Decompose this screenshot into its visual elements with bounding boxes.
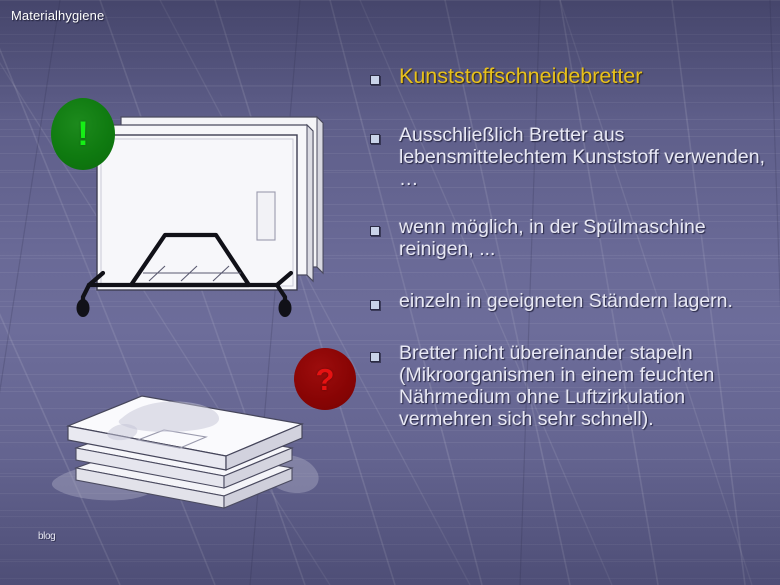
footer-note: blog [38, 531, 55, 542]
presentation-slide: Materialhygiene [0, 0, 780, 585]
bullet-item-4: Bretter nicht übereinander stapeln (Mikr… [370, 342, 770, 430]
bullet-square-icon [370, 352, 380, 362]
bullet-item-1: Ausschließlich Bretter aus lebensmittele… [370, 124, 770, 190]
bullet-item-heading: Kunststoffschneidebretter [370, 64, 770, 88]
bullet-list: Kunststoffschneidebretter Ausschließlich… [370, 64, 770, 452]
status-badge-warning: ? [294, 348, 356, 410]
bullet-item-2: wenn möglich, in der Spülmaschine reinig… [370, 216, 770, 260]
question-mark-icon: ? [316, 364, 335, 395]
exclamation-icon: ! [77, 117, 88, 151]
bullet-square-icon [370, 75, 380, 85]
bullet-text: wenn möglich, in der Spülmaschine reinig… [399, 216, 770, 260]
bullet-text: Kunststoffschneidebretter [399, 64, 642, 88]
slide-title: Materialhygiene [11, 8, 104, 23]
bullet-text: Bretter nicht übereinander stapeln (Mikr… [399, 342, 770, 430]
board-handle-slot [257, 192, 275, 240]
bullet-square-icon [370, 134, 380, 144]
bullet-square-icon [370, 226, 380, 236]
bullet-text: Ausschließlich Bretter aus lebensmittele… [399, 124, 770, 190]
rack-wheels [77, 299, 292, 317]
bullet-item-3: einzeln in geeigneten Ständern lagern. [370, 290, 770, 312]
bullet-square-icon [370, 300, 380, 310]
bullet-text: einzeln in geeigneten Ständern lagern. [399, 290, 733, 312]
status-badge-ok: ! [51, 98, 115, 170]
